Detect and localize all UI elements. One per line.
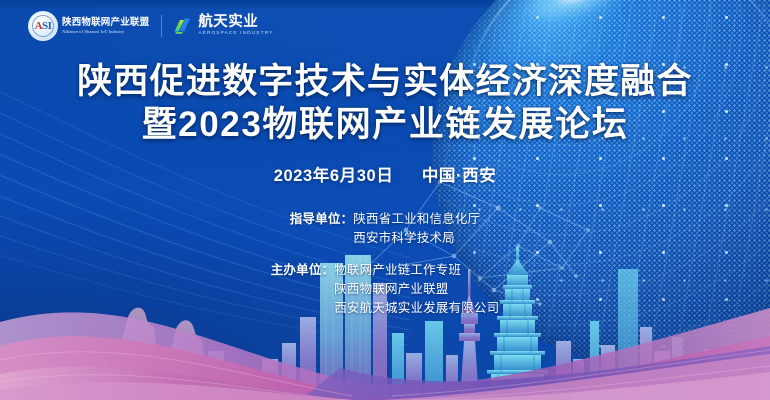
aerospace-industry-logo[interactable]: 航天实业 AEROSPACE INDUSTRY [173, 15, 273, 37]
asi-emblem-text: ASI [35, 20, 52, 32]
event-location: 中国·西安 [422, 167, 497, 185]
aerospace-wordmark: 航天实业 AEROSPACE INDUSTRY [198, 15, 273, 37]
host-unit-item: 物联网产业链工作专班 [334, 261, 499, 280]
host-unit-item: 西安航天城实业发展有限公司 [334, 299, 499, 318]
aerospace-name-en: AEROSPACE INDUSTRY [198, 32, 273, 37]
host-units-label: 主办单位： [271, 261, 335, 280]
guidance-units-label: 指导单位： [290, 210, 354, 229]
guidance-units-values: 陕西省工业和信息化厅 西安市科学技术局 [353, 210, 480, 248]
asi-wordmark: 陕西物联网产业联盟 Alliance of Shaanxi IoT Indust… [62, 18, 149, 35]
aerospace-name-cn: 航天实业 [198, 15, 273, 30]
asi-emblem-icon: ASI [28, 11, 58, 41]
forum-banner: ASI 陕西物联网产业联盟 Alliance of Shaanxi IoT In… [0, 0, 770, 400]
host-units-row: 主办单位： 物联网产业链工作专班 陕西物联网产业联盟 西安航天城实业发展有限公司 [271, 261, 500, 317]
asi-name-cn: 陕西物联网产业联盟 [62, 18, 149, 28]
event-date-location: 2023年6月30日 中国·西安 [0, 162, 770, 186]
guidance-units-row: 指导单位： 陕西省工业和信息化厅 西安市科学技术局 [290, 210, 481, 248]
logo-divider [161, 15, 162, 37]
event-title-line-1: 陕西促进数字技术与实体经济深度融合 [0, 60, 770, 103]
logo-bar: ASI 陕西物联网产业联盟 Alliance of Shaanxi IoT In… [28, 9, 273, 43]
asi-name-en: Alliance of Shaanxi IoT Industry [62, 30, 149, 35]
banner-content: 陕西促进数字技术与实体经济深度融合 暨2023物联网产业链发展论坛 2023年6… [0, 60, 770, 318]
host-units-values: 物联网产业链工作专班 陕西物联网产业联盟 西安航天城实业发展有限公司 [334, 261, 499, 317]
host-unit-item: 陕西物联网产业联盟 [334, 280, 499, 299]
aerospace-swoosh-icon [173, 17, 192, 34]
guidance-unit-item: 陕西省工业和信息化厅 [353, 210, 480, 229]
guidance-unit-item: 西安市科学技术局 [353, 229, 480, 248]
asi-alliance-logo[interactable]: ASI 陕西物联网产业联盟 Alliance of Shaanxi IoT In… [28, 11, 149, 41]
event-title-line-2: 暨2023物联网产业链发展论坛 [0, 103, 770, 146]
organizations-block: 指导单位： 陕西省工业和信息化厅 西安市科学技术局 主办单位： 物联网产业链工作… [0, 210, 770, 318]
event-date: 2023年6月30日 [274, 167, 394, 185]
